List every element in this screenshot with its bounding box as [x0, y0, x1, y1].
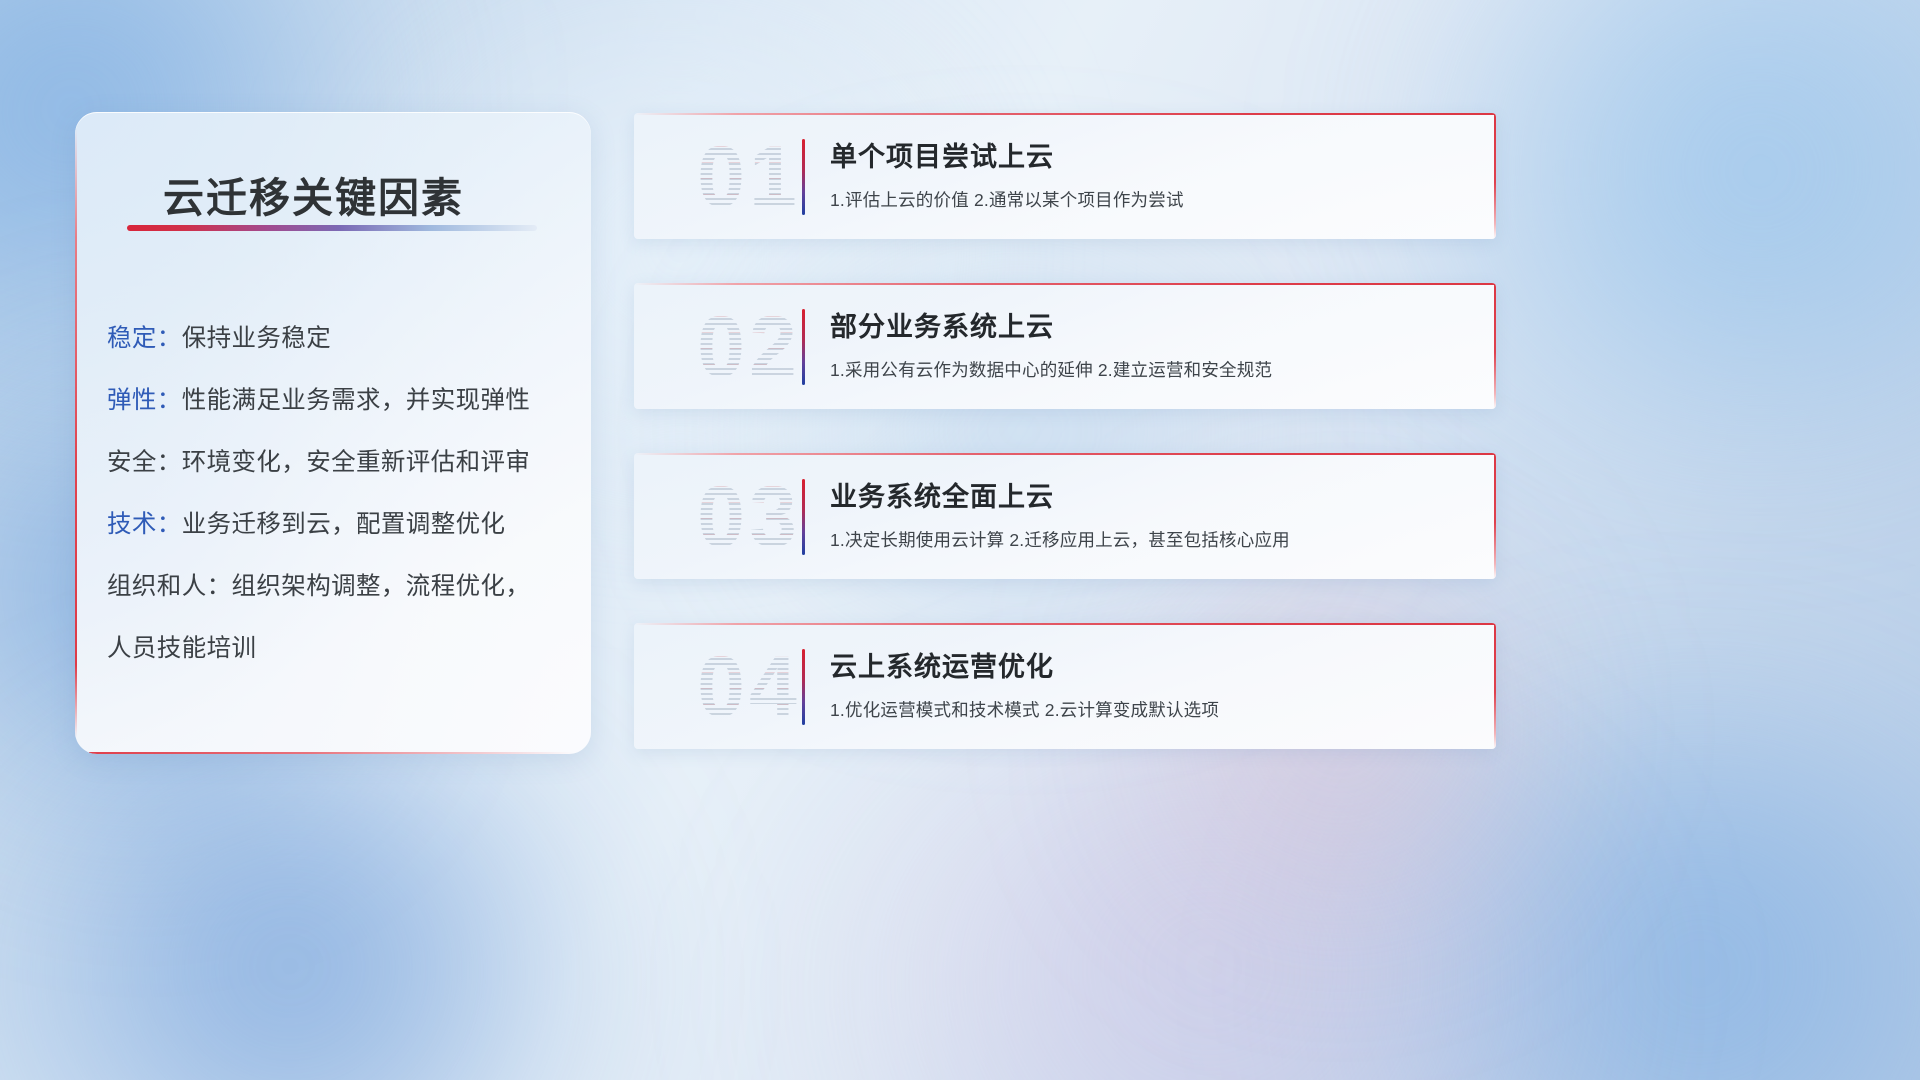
- card-top-accent-line: [634, 113, 1496, 115]
- page-title: 云迁移关键因素: [163, 164, 464, 224]
- card-right-accent-line: [1494, 113, 1496, 239]
- title-underline-gradient: [127, 225, 537, 231]
- stage-description: 1.优化运营模式和技术模式 2.云计算变成默认选项: [830, 697, 1219, 722]
- key-factor-label: 安全：: [107, 449, 182, 476]
- key-factor-label: 稳定：: [107, 325, 182, 352]
- key-factor-line: 人员技能培训: [107, 618, 571, 680]
- stage-description: 1.评估上云的价值 2.通常以某个项目作为尝试: [830, 187, 1184, 212]
- key-factor-text: 环境变化，安全重新评估和评审: [182, 449, 531, 476]
- key-factor-text: 组织架构调整，流程优化，: [232, 573, 531, 600]
- card-top-accent-line: [634, 623, 1496, 625]
- stage-number-watermark-tint: 03: [664, 463, 834, 571]
- stage-number-watermark-tint: 02: [664, 293, 834, 401]
- key-factor-label: 弹性：: [107, 387, 182, 414]
- key-factor-text: 保持业务稳定: [182, 325, 331, 352]
- key-factor-text: 业务迁移到云，配置调整优化: [182, 511, 506, 538]
- card-top-accent-line: [634, 453, 1496, 455]
- card-right-accent-line: [1494, 283, 1496, 409]
- key-factor-line: 技术：业务迁移到云，配置调整优化: [107, 494, 571, 556]
- key-factor-text: 人员技能培训: [107, 635, 256, 662]
- card-divider-bar: [802, 649, 805, 725]
- panel-left-accent-line: [75, 128, 77, 738]
- key-factor-text: 性能满足业务需求，并实现弹性: [182, 387, 531, 414]
- card-top-accent-line: [634, 283, 1496, 285]
- card-divider-bar: [802, 309, 805, 385]
- stage-title: 单个项目尝试上云: [830, 135, 1054, 174]
- key-factor-line: 稳定：保持业务稳定: [107, 308, 571, 370]
- card-divider-bar: [802, 139, 805, 215]
- stage-card[interactable]: 0202部分业务系统上云1.采用公有云作为数据中心的延伸 2.建立运营和安全规范: [634, 283, 1496, 409]
- stage-title: 云上系统运营优化: [830, 645, 1054, 684]
- key-factors-panel: 云迁移关键因素 稳定：保持业务稳定弹性：性能满足业务需求，并实现弹性安全：环境变…: [75, 112, 591, 754]
- key-factor-line: 安全：环境变化，安全重新评估和评审: [107, 432, 571, 494]
- stage-card[interactable]: 0303业务系统全面上云1.决定长期使用云计算 2.迁移应用上云，甚至包括核心应…: [634, 453, 1496, 579]
- stage-card[interactable]: 0404云上系统运营优化1.优化运营模式和技术模式 2.云计算变成默认选项: [634, 623, 1496, 749]
- stage-title: 部分业务系统上云: [830, 305, 1054, 344]
- stages-card-list: 0101单个项目尝试上云1.评估上云的价值 2.通常以某个项目作为尝试0202部…: [634, 113, 1496, 793]
- stage-title: 业务系统全面上云: [830, 475, 1054, 514]
- stage-number-watermark-tint: 01: [664, 123, 834, 231]
- card-right-accent-line: [1494, 453, 1496, 579]
- key-factors-list: 稳定：保持业务稳定弹性：性能满足业务需求，并实现弹性安全：环境变化，安全重新评估…: [107, 308, 571, 680]
- card-right-accent-line: [1494, 623, 1496, 749]
- panel-bottom-accent-line: [89, 752, 573, 754]
- stage-description: 1.决定长期使用云计算 2.迁移应用上云，甚至包括核心应用: [830, 527, 1290, 552]
- key-factor-line: 弹性：性能满足业务需求，并实现弹性: [107, 370, 571, 432]
- key-factor-label: 技术：: [107, 511, 182, 538]
- key-factor-label: 组织和人：: [107, 573, 232, 600]
- key-factor-line: 组织和人：组织架构调整，流程优化，: [107, 556, 571, 618]
- card-divider-bar: [802, 479, 805, 555]
- stage-description: 1.采用公有云作为数据中心的延伸 2.建立运营和安全规范: [830, 357, 1272, 382]
- stage-number-watermark-tint: 04: [664, 633, 834, 741]
- stage-card[interactable]: 0101单个项目尝试上云1.评估上云的价值 2.通常以某个项目作为尝试: [634, 113, 1496, 239]
